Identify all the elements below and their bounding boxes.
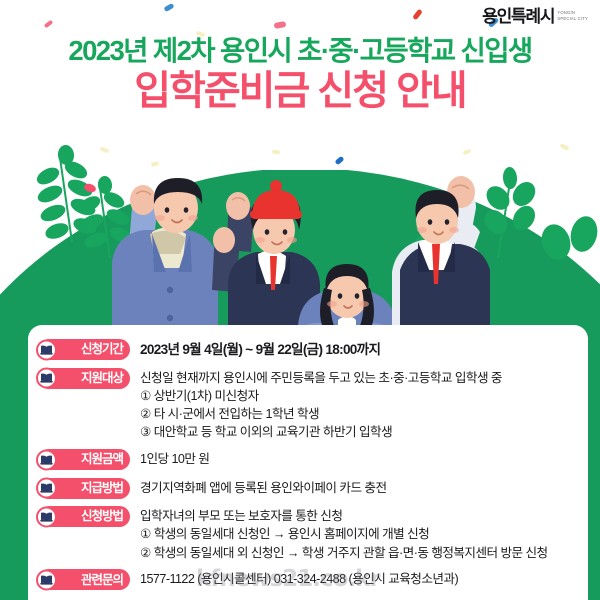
info-badge-label: 지원대상 (81, 372, 123, 385)
poster-root: 용인특례시 YONGINSPECIAL CITY 2023년 제2차 용인시 초… (0, 0, 600, 600)
info-row-body: 경기지역화폐 앱에 등록된 용인와이페이 카드 충전 (130, 478, 588, 497)
info-row: 지원대상신청일 현재까지 용인시에 주민등록을 두고 있는 초·중·고등학교 입… (28, 368, 588, 442)
info-badge-label: 지급방법 (81, 482, 123, 495)
open-book-icon (40, 574, 53, 585)
info-row-lead: 2023년 9월 4일(월) ~ 9월 22일(금) 18:00까지 (140, 340, 588, 360)
info-row-body: 1인당 10만 원 (130, 449, 588, 468)
info-row-body: 2023년 9월 4일(월) ~ 9월 22일(금) 18:00까지 (130, 339, 588, 360)
info-badge-label: 신청방법 (81, 510, 123, 523)
info-row-sub: ① 상반기(1차) 미신청자 (140, 387, 588, 405)
info-row: 지원금액1인당 10만 원 (28, 449, 588, 470)
title-block: 2023년 제2차 용인시 초·중·고등학교 신입생 입학준비금 신청 안내 (0, 36, 600, 114)
info-row: 지급방법경기지역화폐 앱에 등록된 용인와이페이 카드 충전 (28, 478, 588, 499)
open-book-icon (36, 368, 57, 389)
info-row-body: 입학자녀의 부모 또는 보호자를 통한 신청① 학생의 동일세대 신청인 → 용… (130, 506, 588, 562)
open-book-icon (40, 344, 53, 355)
info-row-sub: ② 학생의 동일세대 외 신청인 → 학생 거주지 관할 읍·면·동 행정복지센… (140, 544, 588, 562)
open-book-icon (40, 483, 53, 494)
info-badge-신청방법: 신청방법 (38, 506, 130, 527)
info-card: 신청기간2023년 9월 4일(월) ~ 9월 22일(금) 18:00까지지원… (28, 325, 588, 600)
open-book-icon (36, 569, 57, 590)
info-row-sub: 신청일 현재까지 용인시에 주민등록을 두고 있는 초·중·고등학교 입학생 중 (140, 369, 588, 387)
logo-wordmark: 용인특례시 (482, 8, 554, 25)
logo-subtext-line2: SPECIAL CITY (557, 16, 588, 21)
info-badge-지급방법: 지급방법 (38, 478, 130, 499)
logo-subtext: YONGINSPECIAL CITY (557, 8, 588, 21)
leaf-branch-left (35, 145, 133, 258)
info-badge-지원대상: 지원대상 (38, 368, 130, 389)
watermark: kfnews21.co.kr (196, 566, 380, 592)
open-book-icon (36, 506, 57, 527)
info-row-body: 신청일 현재까지 용인시에 주민등록을 두고 있는 초·중·고등학교 입학생 중… (130, 368, 588, 442)
info-row: 신청기간2023년 9월 4일(월) ~ 9월 22일(금) 18:00까지 (28, 339, 588, 360)
info-row-sub: ③ 대안학교 등 학교 이외의 교육기관 하반기 입학생 (140, 423, 588, 441)
info-row: 신청방법입학자녀의 부모 또는 보호자를 통한 신청① 학생의 동일세대 신청인… (28, 506, 588, 562)
open-book-icon (40, 511, 53, 522)
poster-title-line2: 입학준비금 신청 안내 (0, 69, 600, 114)
yongin-city-logo: 용인특례시 YONGINSPECIAL CITY (482, 8, 588, 25)
info-row-sub: 경기지역화폐 앱에 등록된 용인와이페이 카드 충전 (140, 479, 588, 497)
poster-title-line1: 2023년 제2차 용인시 초·중·고등학교 신입생 (0, 36, 600, 67)
info-rows: 신청기간2023년 9월 4일(월) ~ 9월 22일(금) 18:00까지지원… (28, 325, 588, 590)
info-badge-label: 지원금액 (81, 453, 123, 466)
open-book-icon (40, 454, 53, 465)
info-row-sub: 1인당 10만 원 (140, 450, 588, 468)
open-book-icon (36, 449, 57, 470)
info-row-sub: ② 타 시·군에서 전입하는 1학년 학생 (140, 405, 588, 423)
info-row-sub: 입학자녀의 부모 또는 보호자를 통한 신청 (140, 507, 588, 525)
open-book-icon (36, 478, 57, 499)
info-badge-관련문의: 관련문의 (38, 569, 130, 590)
open-book-icon (36, 339, 57, 360)
info-badge-지원금액: 지원금액 (38, 449, 130, 470)
logo-subtext-line1: YONGIN (557, 10, 575, 15)
open-book-icon (40, 373, 53, 384)
info-row-sub: ① 학생의 동일세대 신청인 → 용인시 홈페이지에 개별 신청 (140, 525, 588, 543)
info-badge-label: 신청기간 (81, 343, 123, 356)
info-badge-신청기간: 신청기간 (38, 339, 130, 360)
info-badge-label: 관련문의 (81, 574, 123, 587)
